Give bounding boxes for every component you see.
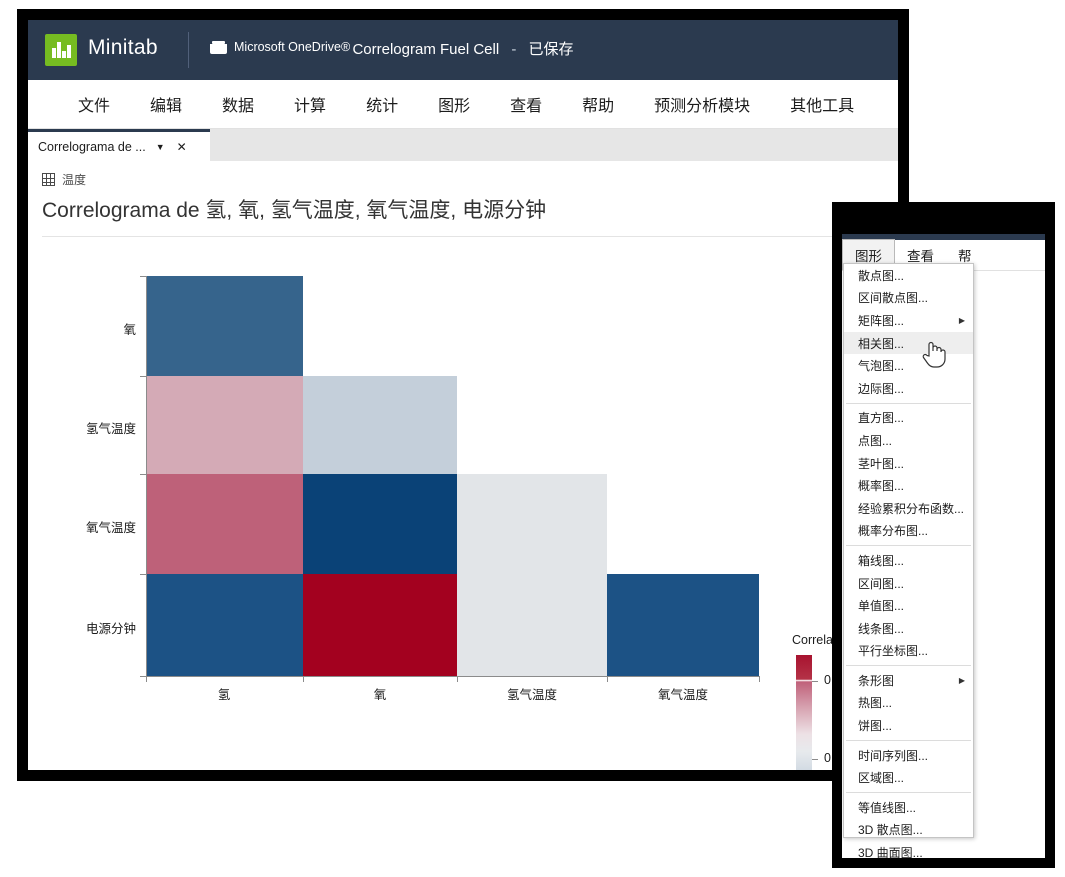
color-legend: 0.5 0 -0.5: [796, 655, 812, 770]
x-axis-tick: [303, 676, 304, 682]
heat-cell-qingqiwendu-yangqiwendu[interactable]: [457, 474, 607, 574]
dropdown-item-label: 区间散点图...: [858, 289, 928, 306]
dropdown-item[interactable]: 箱线图...: [844, 549, 973, 572]
y-axis-label-1: 氢气温度: [36, 418, 136, 437]
dropdown-item[interactable]: 3D 曲面图...: [844, 841, 973, 864]
dropdown-item[interactable]: 区间散点图...: [844, 287, 973, 310]
dropdown-item[interactable]: 线条图...: [844, 617, 973, 640]
x-axis-tick: [146, 676, 147, 682]
heat-cell-yang-yangqiwendu[interactable]: [303, 474, 457, 574]
title-divider: [42, 236, 884, 237]
dropdown-separator: [846, 740, 971, 741]
dropdown-item-label: 矩阵图...: [858, 312, 904, 329]
dropdown-item-label: 直方图...: [858, 409, 904, 426]
menu-item-calc[interactable]: 计算: [274, 86, 346, 122]
dropdown-item-label: 线条图...: [858, 620, 904, 637]
worksheet-grid-icon: [42, 173, 55, 186]
x-axis-label-3: 氧气温度: [603, 684, 763, 703]
menu-item-data[interactable]: 数据: [202, 86, 274, 122]
menu-item-predictive-analytics[interactable]: 预测分析模块: [634, 86, 770, 122]
x-axis-tick: [457, 676, 458, 682]
legend-gradient-bar: [796, 655, 812, 770]
worksheet-name: 温度: [62, 171, 86, 188]
heat-cell-yangqiwendu-dianyuanfenzhong[interactable]: [607, 574, 759, 676]
dropdown-item[interactable]: 相关图...: [844, 332, 973, 355]
hand-pointer-cursor: [921, 338, 947, 368]
y-axis-tick: [140, 474, 146, 475]
minitab-main-window: Minitab Microsoft OneDrive® Correlogram …: [28, 20, 898, 770]
heat-cell-qing-yangqiwendu[interactable]: [146, 474, 303, 574]
tab-correlograma[interactable]: Correlograma de ... ▼ ✕: [28, 129, 210, 162]
dropdown-item[interactable]: 区间图...: [844, 572, 973, 595]
dropdown-item-label: 单值图...: [858, 597, 904, 614]
y-axis-label-3: 电源分钟: [36, 618, 136, 637]
legend-tick: [812, 681, 818, 682]
dropdown-item[interactable]: 边际图...: [844, 377, 973, 400]
y-axis-tick: [140, 376, 146, 377]
legend-value-1: 0: [824, 751, 831, 765]
document-name: Correlogram Fuel Cell: [352, 41, 499, 58]
dropdown-item-label: 条形图: [858, 672, 894, 689]
y-axis-label-2: 氧气温度: [36, 517, 136, 536]
dropdown-item-label: 点图...: [858, 432, 892, 449]
dropdown-separator: [846, 545, 971, 546]
dropdown-item[interactable]: 概率图...: [844, 474, 973, 497]
dropdown-item-label: 气泡图...: [858, 357, 904, 374]
dropdown-item[interactable]: 点图...: [844, 429, 973, 452]
save-status-label: 已保存: [529, 41, 574, 58]
tab-strip: Correlograma de ... ▼ ✕: [28, 129, 898, 163]
dropdown-item[interactable]: 矩阵图...▶: [844, 309, 973, 332]
document-title-separator: -: [511, 41, 516, 58]
x-axis-tick: [607, 676, 608, 682]
submenu-arrow-icon: ▶: [959, 676, 965, 685]
dropdown-item-label: 概率图...: [858, 477, 904, 494]
menu-item-edit[interactable]: 编辑: [130, 86, 202, 122]
heat-cell-qing-yang[interactable]: [146, 276, 303, 376]
heat-cell-qing-qingqiwendu[interactable]: [146, 376, 303, 474]
page-title: Correlograma de 氢, 氧, 氢气温度, 氧气温度, 电源分钟: [28, 188, 898, 224]
x-axis-tick: [759, 676, 760, 682]
x-axis-label-2: 氢气温度: [452, 684, 612, 703]
dropdown-item-label: 经验累积分布函数...: [858, 500, 964, 517]
dropdown-item[interactable]: 散点图...: [844, 264, 973, 287]
worksheet-breadcrumb: 温度: [28, 161, 898, 188]
dropdown-item-label: 平行坐标图...: [858, 642, 928, 659]
dropdown-item-label: 时间序列图...: [858, 747, 928, 764]
dropdown-item[interactable]: 区域图...: [844, 766, 973, 789]
dropdown-item-label: 相关图...: [858, 335, 904, 352]
y-axis-tick: [140, 574, 146, 575]
dropdown-item[interactable]: 热图...: [844, 692, 973, 715]
submenu-arrow-icon: ▶: [959, 316, 965, 325]
dropdown-item-label: 等值线图...: [858, 799, 916, 816]
tab-label: Correlograma de ...: [38, 140, 146, 154]
dropdown-item-label: 区域图...: [858, 769, 904, 786]
menu-item-graph[interactable]: 图形: [418, 86, 490, 122]
dropdown-item-label: 3D 散点图...: [858, 821, 923, 838]
dropdown-item[interactable]: 条形图▶: [844, 669, 973, 692]
dropdown-item[interactable]: 经验累积分布函数...: [844, 497, 973, 520]
chevron-down-icon[interactable]: ▼: [156, 142, 165, 152]
window-title-bar: Minitab Microsoft OneDrive® Correlogram …: [28, 20, 898, 80]
heat-cell-yang-dianyuanfenzhong[interactable]: [303, 574, 457, 676]
dropdown-separator: [846, 792, 971, 793]
dropdown-item[interactable]: 概率分布图...: [844, 520, 973, 543]
dropdown-item-label: 区间图...: [858, 575, 904, 592]
graph-content-pane: 温度 Correlograma de 氢, 氧, 氢气温度, 氧气温度, 电源分…: [28, 161, 898, 770]
y-axis-line: [146, 276, 147, 676]
document-title-group: Correlogram Fuel Cell - 已保存: [28, 38, 898, 59]
x-axis-label-0: 氢: [144, 684, 304, 703]
dropdown-item-label: 箱线图...: [858, 552, 904, 569]
dropdown-item-label: 3D 曲面图...: [858, 844, 923, 861]
dropdown-item[interactable]: 茎叶图...: [844, 452, 973, 475]
correlogram-plot: 氧 氢气温度 氧气温度 电源分钟 氢 氧 氢气温度 氧气温度 Correlaçã…: [28, 271, 898, 741]
dropdown-item[interactable]: 直方图...: [844, 407, 973, 430]
dropdown-item-label: 热图...: [858, 694, 892, 711]
dropdown-item-label: 散点图...: [858, 267, 904, 284]
dropdown-item[interactable]: 单值图...: [844, 594, 973, 617]
menu-item-other-tools[interactable]: 其他工具: [770, 86, 874, 122]
dropdown-separator: [846, 403, 971, 404]
y-axis-label-0: 氧: [36, 319, 136, 338]
main-menu-bar: 文件 编辑 数据 计算 统计 图形 查看 帮助 预测分析模块 其他工具: [28, 80, 898, 129]
heat-cell-yang-qingqiwendu[interactable]: [303, 376, 457, 474]
dropdown-item[interactable]: 等值线图...: [844, 796, 973, 819]
heat-cell-qing-dianyuanfenzhong[interactable]: [146, 574, 303, 676]
dropdown-item-label: 饼图...: [858, 717, 892, 734]
dropdown-item-label: 茎叶图...: [858, 455, 904, 472]
close-icon[interactable]: ✕: [177, 140, 187, 154]
heat-cell-qingqiwendu-dianyuanfenzhong[interactable]: [457, 574, 607, 676]
dropdown-item[interactable]: 3D 散点图...: [844, 819, 973, 842]
menu-item-help[interactable]: 帮助: [562, 86, 634, 122]
legend-tick: [812, 759, 818, 760]
graph-dropdown-menu: 散点图...区间散点图...矩阵图...▶相关图...气泡图...边际图...直…: [843, 263, 974, 838]
menu-item-stat[interactable]: 统计: [346, 86, 418, 122]
menu-item-file[interactable]: 文件: [58, 86, 130, 122]
x-axis-label-1: 氧: [300, 684, 460, 703]
dropdown-item[interactable]: 时间序列图...: [844, 744, 973, 767]
dropdown-item[interactable]: 饼图...: [844, 714, 973, 737]
menu-item-view[interactable]: 查看: [490, 86, 562, 122]
dropdown-item[interactable]: 平行坐标图...: [844, 640, 973, 663]
dropdown-separator: [846, 665, 971, 666]
y-axis-tick: [140, 276, 146, 277]
x-axis-line: [146, 676, 759, 677]
dropdown-item-label: 概率分布图...: [858, 522, 928, 539]
dropdown-item-label: 边际图...: [858, 380, 904, 397]
dropdown-item[interactable]: 气泡图...: [844, 354, 973, 377]
